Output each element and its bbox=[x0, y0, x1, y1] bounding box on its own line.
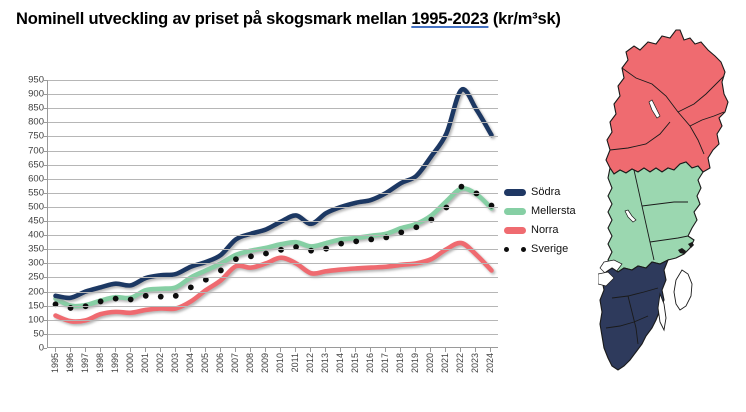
x-axis-tick-label: 2002 bbox=[155, 353, 165, 373]
x-axis-tick-label: 2014 bbox=[335, 353, 345, 373]
gridline bbox=[48, 165, 498, 166]
x-axis-tick-label: 2003 bbox=[170, 353, 180, 373]
x-axis-tick-label: 2012 bbox=[305, 353, 315, 373]
y-axis-tick-label: 250 bbox=[2, 272, 44, 283]
series-marker-point bbox=[98, 299, 104, 305]
legend-item-label: Sverige bbox=[531, 243, 568, 255]
legend-dots-swatch bbox=[504, 247, 526, 252]
y-axis-tick-label: 700 bbox=[2, 145, 44, 156]
map-island-gotland bbox=[674, 270, 692, 310]
gridline bbox=[48, 80, 498, 81]
gridline bbox=[48, 334, 498, 335]
y-axis-tick-label: 450 bbox=[2, 216, 44, 227]
y-axis-tick-label: 900 bbox=[2, 89, 44, 100]
legend-line-swatch bbox=[504, 227, 526, 234]
infographic-root: Nominell utveckling av priset på skogsma… bbox=[0, 0, 746, 412]
y-axis-tick-label: 750 bbox=[2, 131, 44, 142]
title-year-range: 1995-2023 bbox=[411, 10, 488, 28]
map-island-oland bbox=[658, 294, 666, 330]
x-axis-tick-mark bbox=[355, 348, 356, 352]
legend-line-swatch bbox=[504, 208, 526, 215]
map-region-mellersta bbox=[608, 162, 703, 272]
x-axis-tick-mark bbox=[55, 348, 56, 352]
series-marker-point bbox=[128, 297, 134, 303]
legend-item-sverige[interactable]: Sverige bbox=[504, 240, 599, 258]
x-axis-tick-mark bbox=[385, 348, 386, 352]
x-axis-tick-label: 2017 bbox=[380, 353, 390, 373]
series-layer bbox=[48, 80, 499, 348]
x-axis-tick-mark bbox=[235, 348, 236, 352]
x-axis-tick-mark bbox=[460, 348, 461, 352]
x-axis-tick-label: 2006 bbox=[215, 353, 225, 373]
x-axis-tick-mark bbox=[145, 348, 146, 352]
y-axis-tick-label: 300 bbox=[2, 258, 44, 269]
plot-area bbox=[47, 80, 498, 348]
x-axis-tick-label: 2010 bbox=[275, 353, 285, 373]
y-axis-tick-label: 650 bbox=[2, 159, 44, 170]
x-axis-tick-label: 2005 bbox=[200, 353, 210, 373]
y-axis-tick-label: 350 bbox=[2, 244, 44, 255]
x-axis-tick-mark bbox=[340, 348, 341, 352]
series-marker-point bbox=[218, 268, 224, 274]
gridline bbox=[48, 306, 498, 307]
x-axis-tick-label: 2018 bbox=[395, 353, 405, 373]
x-axis-tick-mark bbox=[400, 348, 401, 352]
series-marker-point bbox=[158, 294, 164, 300]
x-axis-tick-label: 1999 bbox=[110, 353, 120, 373]
x-axis-tick-label: 2001 bbox=[140, 353, 150, 373]
x-axis-tick-mark bbox=[70, 348, 71, 352]
y-axis: 0501001502002503003504004505005506006507… bbox=[0, 80, 44, 348]
gridline bbox=[48, 136, 498, 137]
x-axis-tick-mark bbox=[250, 348, 251, 352]
x-axis-tick-label: 2004 bbox=[185, 353, 195, 373]
x-axis-tick-label: 2023 bbox=[470, 353, 480, 373]
sweden-map-svg bbox=[598, 22, 746, 390]
x-axis-tick-mark bbox=[220, 348, 221, 352]
x-axis-tick-mark bbox=[130, 348, 131, 352]
gridline bbox=[48, 235, 498, 236]
chart-legend: SödraMellerstaNorraSverige bbox=[504, 183, 599, 259]
y-axis-tick-label: 150 bbox=[2, 300, 44, 311]
map-region-norra bbox=[606, 30, 728, 174]
x-axis-tick-label: 1996 bbox=[65, 353, 75, 373]
gridline bbox=[48, 277, 498, 278]
series-marker-point bbox=[368, 236, 374, 242]
x-axis-tick-label: 2013 bbox=[320, 353, 330, 373]
x-axis-tick-label: 2000 bbox=[125, 353, 135, 373]
gridline bbox=[48, 151, 498, 152]
x-axis-tick-label: 2022 bbox=[455, 353, 465, 373]
title-text-after: (kr/m³sk) bbox=[488, 10, 560, 28]
x-axis-tick-mark bbox=[310, 348, 311, 352]
legend-item-mellersta[interactable]: Mellersta bbox=[504, 202, 599, 220]
series-marker-point bbox=[233, 256, 239, 262]
legend-dot bbox=[521, 247, 526, 252]
x-axis-tick-label: 1995 bbox=[50, 353, 60, 373]
series-marker-point bbox=[338, 241, 344, 247]
x-axis-tick-mark bbox=[430, 348, 431, 352]
legend-item-label: Södra bbox=[531, 186, 560, 198]
x-axis-tick-mark bbox=[475, 348, 476, 352]
series-marker-point bbox=[188, 284, 194, 290]
x-axis-tick-label: 1998 bbox=[95, 353, 105, 373]
legend-item-sodra[interactable]: Södra bbox=[504, 183, 599, 201]
x-axis-tick-mark bbox=[115, 348, 116, 352]
gridline bbox=[48, 221, 498, 222]
y-axis-tick-label: 850 bbox=[2, 103, 44, 114]
legend-item-label: Mellersta bbox=[531, 205, 576, 217]
x-axis-tick-label: 2016 bbox=[365, 353, 375, 373]
y-axis-tick-mark bbox=[43, 348, 47, 349]
x-axis-tick-mark bbox=[100, 348, 101, 352]
x-axis-tick-mark bbox=[370, 348, 371, 352]
legend-item-norra[interactable]: Norra bbox=[504, 221, 599, 239]
gridline bbox=[48, 193, 498, 194]
y-axis-tick-label: 200 bbox=[2, 286, 44, 297]
x-axis-tick-mark bbox=[415, 348, 416, 352]
x-axis-tick-mark bbox=[265, 348, 266, 352]
y-axis-tick-label: 950 bbox=[2, 75, 44, 86]
x-axis-tick-mark bbox=[445, 348, 446, 352]
page-title: Nominell utveckling av priset på skogsma… bbox=[16, 10, 561, 29]
gridline bbox=[48, 108, 498, 109]
x-axis-tick-mark bbox=[205, 348, 206, 352]
gridline bbox=[48, 179, 498, 180]
x-axis-tick-mark bbox=[325, 348, 326, 352]
y-axis-tick-label: 100 bbox=[2, 314, 44, 325]
x-axis-tick-mark bbox=[175, 348, 176, 352]
x-axis-tick-label: 1997 bbox=[80, 353, 90, 373]
y-axis-tick-label: 500 bbox=[2, 201, 44, 212]
x-axis-tick-label: 2011 bbox=[290, 353, 300, 372]
gridline bbox=[48, 320, 498, 321]
x-axis-tick-mark bbox=[490, 348, 491, 352]
x-axis-tick-mark bbox=[85, 348, 86, 352]
series-marker-point bbox=[459, 184, 465, 190]
x-axis-tick-label: 2007 bbox=[230, 353, 240, 373]
x-axis-tick-label: 2009 bbox=[260, 353, 270, 373]
x-axis-tick-mark bbox=[190, 348, 191, 352]
gridline bbox=[48, 207, 498, 208]
gridline bbox=[48, 122, 498, 123]
gridline bbox=[48, 292, 498, 293]
sweden-region-map bbox=[598, 22, 746, 390]
x-axis-tick-mark bbox=[160, 348, 161, 352]
gridline bbox=[48, 249, 498, 250]
y-axis-tick-label: 50 bbox=[2, 328, 44, 339]
price-development-line-chart: 0501001502002503003504004505005506006507… bbox=[0, 60, 520, 405]
x-axis-tick-label: 2024 bbox=[485, 353, 495, 373]
x-axis-tick-mark bbox=[295, 348, 296, 352]
gridline bbox=[48, 94, 498, 95]
x-axis-tick-label: 2019 bbox=[410, 353, 420, 373]
y-axis-tick-label: 600 bbox=[2, 173, 44, 184]
x-axis-tick-mark bbox=[280, 348, 281, 352]
series-marker-point bbox=[263, 251, 269, 257]
series-marker-point bbox=[143, 293, 149, 299]
series-marker-point bbox=[113, 296, 119, 302]
legend-dot bbox=[504, 247, 509, 252]
title-text-before: Nominell utveckling av priset på skogsma… bbox=[16, 10, 411, 28]
series-marker-point bbox=[413, 224, 419, 230]
y-axis-tick-label: 0 bbox=[2, 343, 44, 354]
y-axis-tick-label: 400 bbox=[2, 230, 44, 241]
x-axis-tick-label: 2015 bbox=[350, 353, 360, 373]
series-marker-point bbox=[353, 238, 359, 244]
x-axis-tick-label: 2020 bbox=[425, 353, 435, 373]
series-marker-point bbox=[248, 253, 254, 259]
legend-item-label: Norra bbox=[531, 224, 559, 236]
legend-line-swatch bbox=[504, 189, 526, 196]
series-marker-point bbox=[173, 293, 179, 299]
x-axis-tick-label: 2008 bbox=[245, 353, 255, 373]
gridline bbox=[48, 263, 498, 264]
y-axis-tick-label: 800 bbox=[2, 117, 44, 128]
x-axis-tick-label: 2021 bbox=[440, 353, 450, 373]
y-axis-tick-label: 550 bbox=[2, 187, 44, 198]
